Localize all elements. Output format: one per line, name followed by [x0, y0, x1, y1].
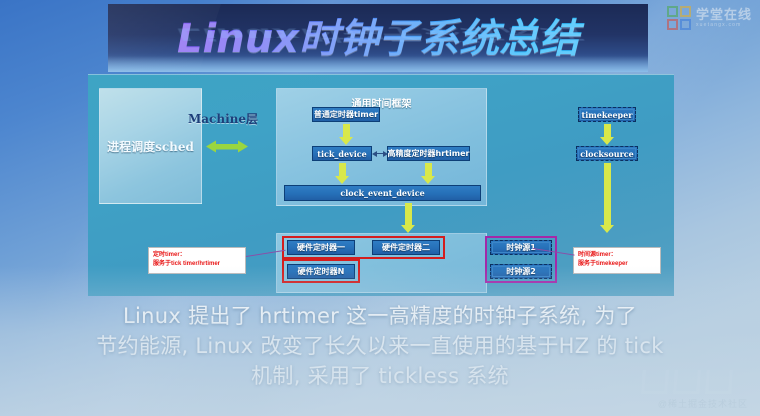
bidirectional-arrow-icon: [206, 140, 248, 153]
arrow-hrtimer-to-ced: [425, 163, 432, 177]
framework-title: 通用时间框架: [277, 95, 486, 110]
callout-left-line1: 定时timer：: [153, 251, 241, 260]
xuetangx-logo: 学堂在线 xuetangx.com: [667, 6, 752, 30]
logo-squares-icon: [667, 6, 691, 30]
sched-box: 进程调度sched: [99, 88, 202, 204]
callout-right-line2: 服务于timekeeper: [578, 260, 656, 269]
logo-square-blue-icon: [680, 19, 691, 30]
page-title-reflection: Linux时钟子系统总结: [108, 24, 648, 48]
caption-line-2: 节约能源, Linux 改变了长久以来一直使用的基于HZ 的 tick: [0, 332, 760, 362]
node-clock-event-device[interactable]: clock_event_device: [284, 185, 481, 201]
logo-square-green-icon: [667, 6, 678, 17]
node-tick-device[interactable]: tick_device: [312, 146, 372, 161]
arrow-timekeeper-to-clocksource: [604, 124, 611, 138]
arrow-ced-to-hardware-timer: [405, 203, 412, 226]
title-band-glow: [108, 56, 648, 72]
highlight-hw-timer-rown: [282, 259, 360, 283]
node-clocksource[interactable]: clocksource: [576, 146, 638, 161]
caption-line-1: Linux 提出了 hrtimer 这一高精度的时钟子系统, 为了: [0, 302, 760, 332]
arrow-timer-to-tick-device: [343, 124, 350, 138]
logo-square-red-icon: [667, 19, 678, 30]
logo-square-yellow-icon: [680, 6, 691, 17]
node-timer[interactable]: 普通定时器timer: [312, 107, 380, 122]
machine-layer-label: Machine层: [188, 110, 258, 127]
logo-domain: xuetangx.com: [696, 23, 752, 28]
highlight-clock-sources: [485, 236, 557, 283]
logo-text: 学堂在线 xuetangx.com: [696, 8, 752, 28]
caption-block: Linux 提出了 hrtimer 这一高精度的时钟子系统, 为了 节约能源, …: [0, 302, 760, 391]
caption-line-3: 机制, 采用了 tickless 系统: [0, 362, 760, 392]
callout-left-line2: 服务于tick timer/hrtimer: [153, 260, 241, 269]
link-tick-device-hrtimer: [377, 153, 383, 154]
callout-right: 时间源timer： 服务于timekeeper: [573, 247, 661, 274]
callout-right-line1: 时间源timer：: [578, 251, 656, 260]
arrow-tick-device-to-ced: [339, 163, 346, 177]
node-timekeeper[interactable]: timekeeper: [578, 107, 636, 122]
callout-left: 定时timer： 服务于tick timer/hrtimer: [148, 247, 246, 274]
highlight-hw-timer-row1: [282, 236, 445, 259]
node-hrtimer[interactable]: 高精度定时器hrtimer: [387, 146, 470, 161]
arrow-clocksource-to-clock-src: [604, 163, 611, 226]
bottom-watermark: @稀土掘金技术社区: [658, 397, 748, 410]
sched-box-label: 进程调度sched: [107, 138, 194, 155]
logo-chinese-name: 学堂在线: [696, 8, 752, 21]
title-band: Linux时钟子系统总结 Linux时钟子系统总结: [108, 4, 648, 72]
slide-canvas: Linux时钟子系统总结 Linux时钟子系统总结 学堂在线 xuetangx.…: [0, 0, 760, 416]
